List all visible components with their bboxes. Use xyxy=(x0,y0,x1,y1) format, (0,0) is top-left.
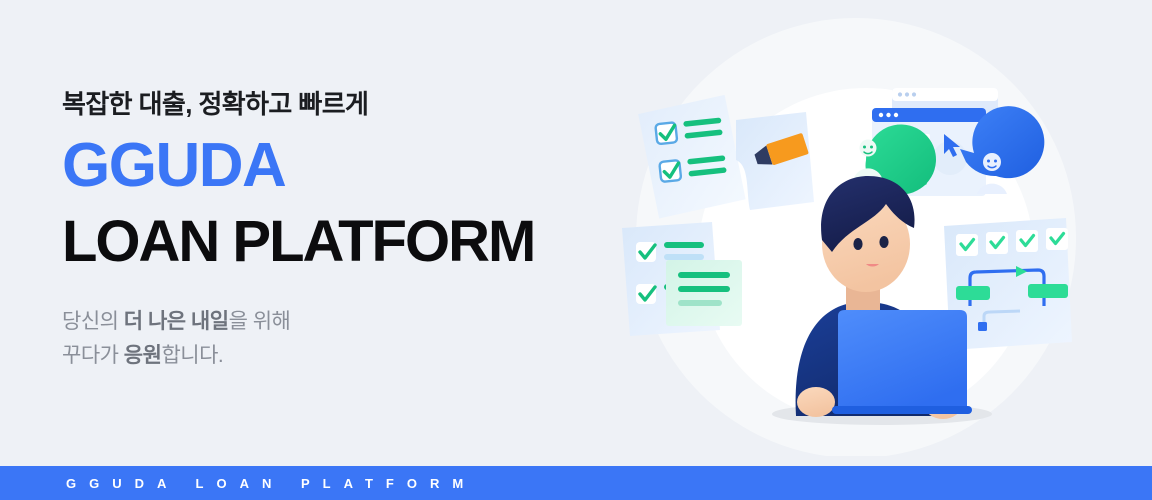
bottom-ribbon: GGUDA LOAN PLATFORM xyxy=(0,466,1152,500)
person-hand-left xyxy=(797,387,835,417)
hero-illustration xyxy=(600,16,1100,456)
mint-note-card xyxy=(666,260,742,326)
ribbon-label: GGUDA LOAN PLATFORM xyxy=(0,476,476,491)
hero-tagline-line-2: 꾸다가 응원합니다. xyxy=(62,339,622,373)
person-eye-right xyxy=(879,236,888,248)
hero-tagline: 당신의 더 나은 내일을 위해 꾸다가 응원합니다. xyxy=(62,305,622,373)
laptop xyxy=(832,310,972,414)
tagline-line1-part2: 을 위해 xyxy=(229,310,291,333)
tagline-line1-emphasis: 더 나은 내일 xyxy=(124,310,229,333)
hero-banner: 복잡한 대출, 정확하고 빠르게 GGUDA LOAN PLATFORM 당신의… xyxy=(0,0,1152,500)
hero-brand-title: GGUDA xyxy=(62,135,622,197)
tagline-line2-emphasis: 응원 xyxy=(124,344,162,367)
person-eye-left xyxy=(853,238,862,250)
tagline-line2-part2: 합니다. xyxy=(161,344,223,367)
hero-eyebrow: 복잡한 대출, 정확하고 빠르게 xyxy=(62,88,622,121)
hero-tagline-line-1: 당신의 더 나은 내일을 위해 xyxy=(62,305,622,339)
hero-copy: 복잡한 대출, 정확하고 빠르게 GGUDA LOAN PLATFORM 당신의… xyxy=(62,88,622,373)
tagline-line2-part1: 꾸다가 xyxy=(62,344,124,367)
tagline-line1-part1: 당신의 xyxy=(62,310,124,333)
hero-product-title: LOAN PLATFORM xyxy=(62,213,622,271)
